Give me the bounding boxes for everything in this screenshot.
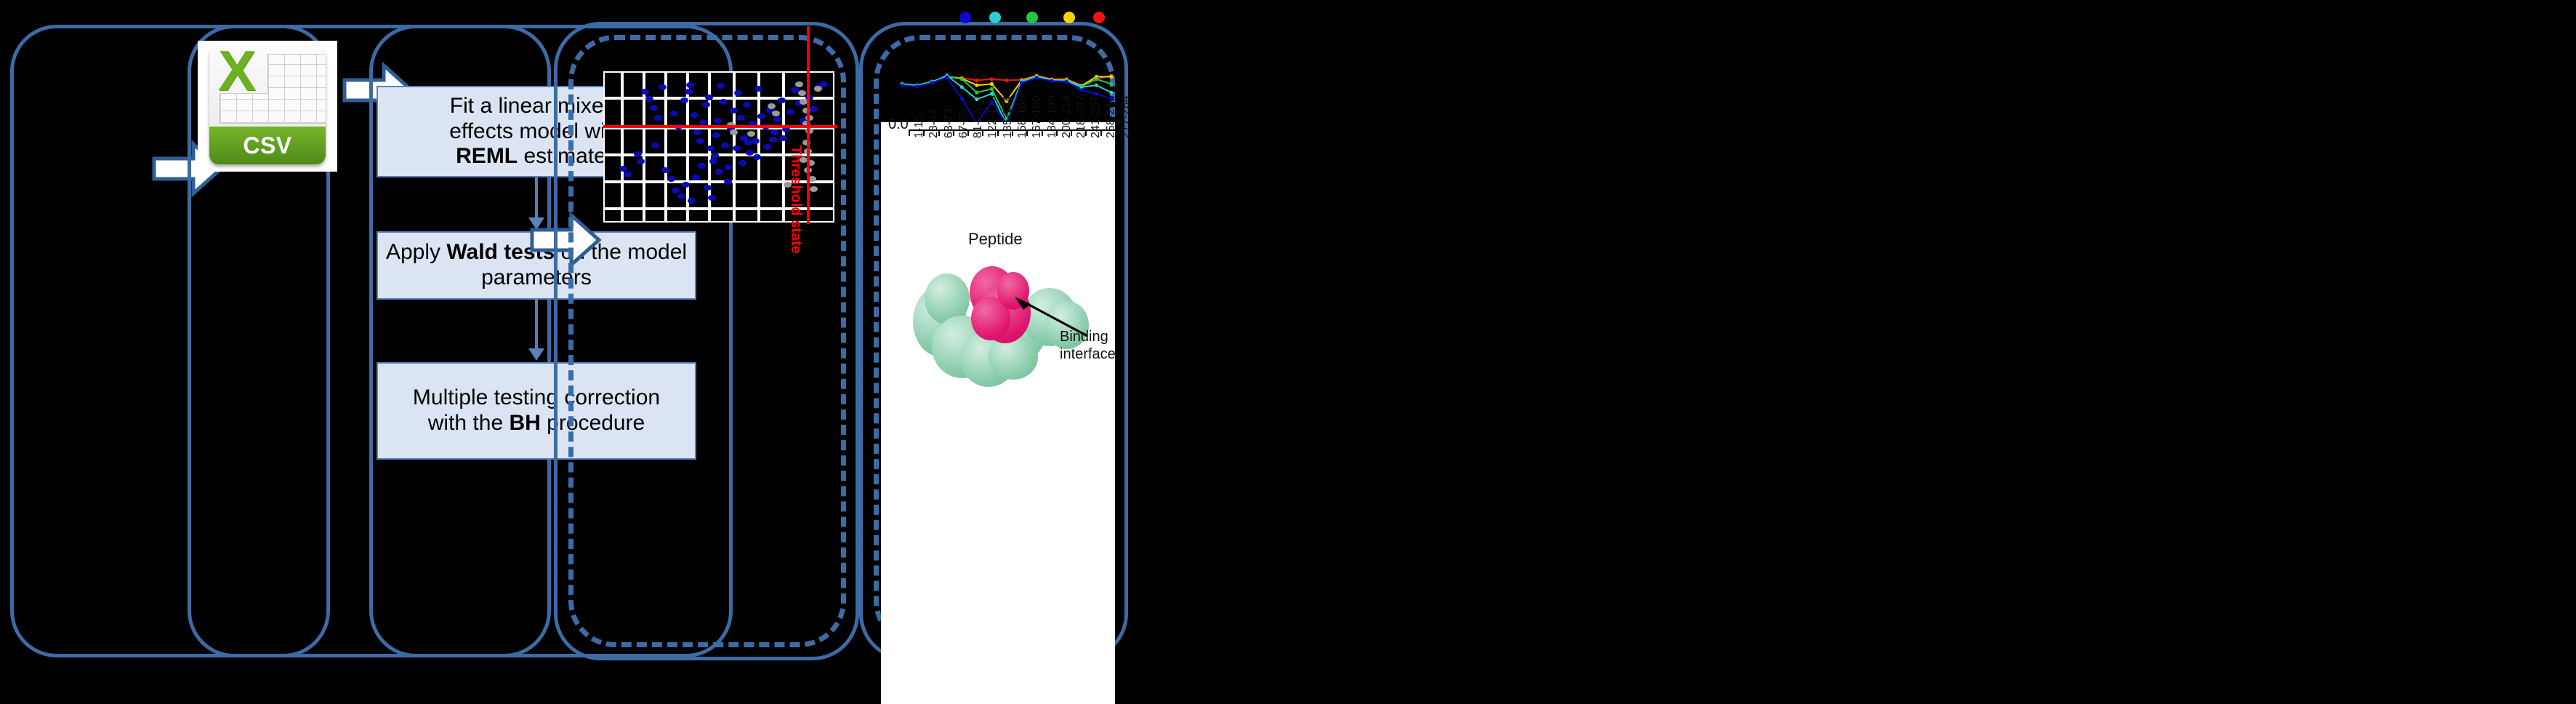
line-point bbox=[990, 82, 994, 86]
diagram-canvas: X CSV Fit a linear mixed- effects model … bbox=[0, 0, 2576, 687]
x-tick-label: 158-166 bbox=[1016, 95, 1029, 138]
line-point bbox=[1020, 81, 1023, 84]
line-point bbox=[975, 84, 978, 87]
line-point bbox=[1079, 88, 1083, 92]
legend-dot-series-cyan bbox=[989, 12, 1001, 23]
line-point bbox=[960, 97, 964, 100]
line-point bbox=[1109, 91, 1113, 95]
line-point bbox=[1109, 82, 1113, 86]
line-point bbox=[915, 84, 919, 88]
line-point bbox=[1050, 79, 1053, 83]
x-tick-label: 63-73 bbox=[943, 108, 956, 138]
line-point bbox=[960, 85, 964, 89]
line-point bbox=[990, 77, 994, 81]
binding-label-line2: interface bbox=[1060, 346, 1116, 364]
x-tick-label: 81-101 bbox=[972, 102, 985, 138]
legend-dot-series-yellow bbox=[1063, 12, 1075, 23]
x-tick-label: 122-129 bbox=[986, 95, 999, 138]
threshold-state-label: Threshold state bbox=[787, 145, 804, 254]
legend-dot-series-blue bbox=[959, 12, 971, 23]
binding-interface-label: Binding interface bbox=[1060, 329, 1116, 363]
line-point bbox=[990, 87, 994, 91]
x-tick-label: 200-214 bbox=[1060, 95, 1074, 138]
x-tick-label: 67-75 bbox=[957, 108, 970, 138]
step-bh-line2: with the bbox=[428, 411, 510, 435]
line-point bbox=[1065, 80, 1068, 84]
line-point bbox=[930, 81, 934, 84]
legend-dot-series-green bbox=[1026, 12, 1038, 23]
csv-card: X CSV bbox=[209, 47, 326, 164]
line-point bbox=[1005, 79, 1008, 82]
x-tick-label: 135-144 bbox=[1002, 95, 1015, 138]
line-point bbox=[975, 91, 978, 95]
step-wald-pre: Apply bbox=[386, 240, 446, 264]
threshold-interaction-line bbox=[603, 125, 837, 128]
step-reml-bold: REML bbox=[456, 144, 518, 168]
line-point bbox=[975, 97, 978, 101]
csv-file-icon: X CSV bbox=[198, 41, 337, 172]
x-tick-label: 258-266 bbox=[1105, 95, 1118, 138]
legend-dot-series-red bbox=[1093, 12, 1105, 23]
threshold-state-line bbox=[807, 26, 810, 224]
x-tick-label: 167-180 bbox=[1031, 95, 1044, 138]
x-tick-label: 277-284 bbox=[1119, 95, 1132, 138]
y-axis-tick-label: 0.0 bbox=[888, 116, 909, 133]
x-tick bbox=[909, 129, 910, 136]
line-point bbox=[945, 76, 949, 79]
structure-figure-card bbox=[881, 122, 1115, 704]
line-point bbox=[960, 77, 964, 81]
line-point bbox=[1095, 84, 1098, 87]
connector-arrow-down-2 bbox=[535, 300, 538, 349]
line-point bbox=[975, 79, 978, 82]
line-point bbox=[1109, 75, 1113, 79]
line-point bbox=[900, 84, 903, 87]
csv-label: CSV bbox=[243, 132, 291, 159]
step-bh-bold: BH bbox=[509, 411, 540, 435]
x-tick-label: 28-44 bbox=[927, 108, 941, 138]
x-axis-title: Peptide bbox=[968, 230, 1023, 249]
connector-arrow-down-1 bbox=[535, 177, 538, 218]
csv-band: CSV bbox=[209, 127, 326, 164]
x-tick-label: 241-257 bbox=[1090, 95, 1103, 138]
binding-label-line1: Binding bbox=[1060, 329, 1116, 346]
x-tick-label: 184-199 bbox=[1046, 95, 1059, 138]
excel-x-icon: X bbox=[218, 47, 256, 99]
x-tick-label: 218-237 bbox=[1075, 95, 1088, 138]
x-tick-label: 1-15 bbox=[913, 115, 926, 138]
line-point bbox=[1035, 76, 1039, 80]
line-point bbox=[1095, 77, 1098, 81]
